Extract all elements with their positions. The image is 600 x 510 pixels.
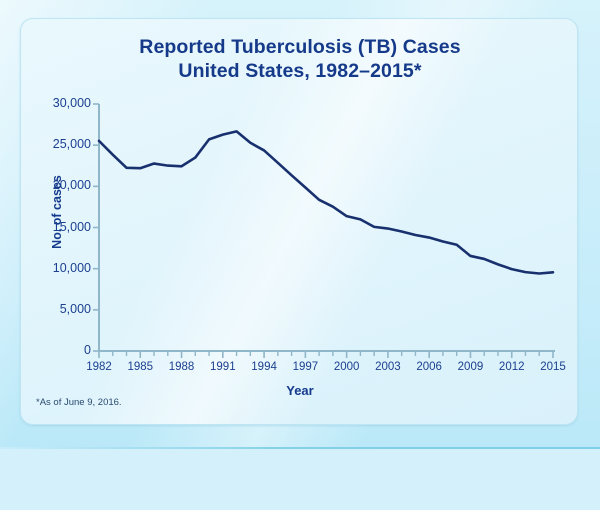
- x-tick-label: 1988: [160, 361, 204, 373]
- x-tick-label: 1997: [283, 361, 327, 373]
- y-tick-label: 15,000: [21, 220, 91, 234]
- x-tick-label: 2000: [325, 361, 369, 373]
- y-tick-label: 30,000: [21, 96, 91, 110]
- chart-card: Reported Tuberculosis (TB) Cases United …: [20, 18, 578, 425]
- x-tick-label: 1982: [77, 361, 121, 373]
- lower-band: [0, 449, 600, 510]
- x-tick-label: 2015: [531, 361, 575, 373]
- y-tick-label: 5,000: [21, 302, 91, 316]
- chart-plot-area: No. of cases Year 05,00010,00015,00020,0…: [21, 19, 579, 426]
- y-tick-label: 25,000: [21, 137, 91, 151]
- x-tick-label: 2012: [490, 361, 534, 373]
- x-axis-ticks: [99, 351, 553, 358]
- y-axis-title: No. of cases: [50, 152, 64, 272]
- tb-cases-line: [99, 131, 553, 273]
- chart-footnote: *As of June 9, 2016.: [36, 397, 122, 408]
- y-tick-label: 10,000: [21, 261, 91, 275]
- x-tick-label: 1985: [118, 361, 162, 373]
- x-tick-label: 1994: [242, 361, 286, 373]
- x-tick-label: 2009: [448, 361, 492, 373]
- chart-axes: [99, 104, 555, 351]
- y-tick-label: 0: [21, 343, 91, 357]
- y-tick-label: 20,000: [21, 178, 91, 192]
- x-tick-label: 2003: [366, 361, 410, 373]
- x-axis-title: Year: [21, 383, 579, 398]
- horizontal-divider: [0, 447, 600, 449]
- x-tick-label: 2006: [407, 361, 451, 373]
- x-tick-label: 1991: [201, 361, 245, 373]
